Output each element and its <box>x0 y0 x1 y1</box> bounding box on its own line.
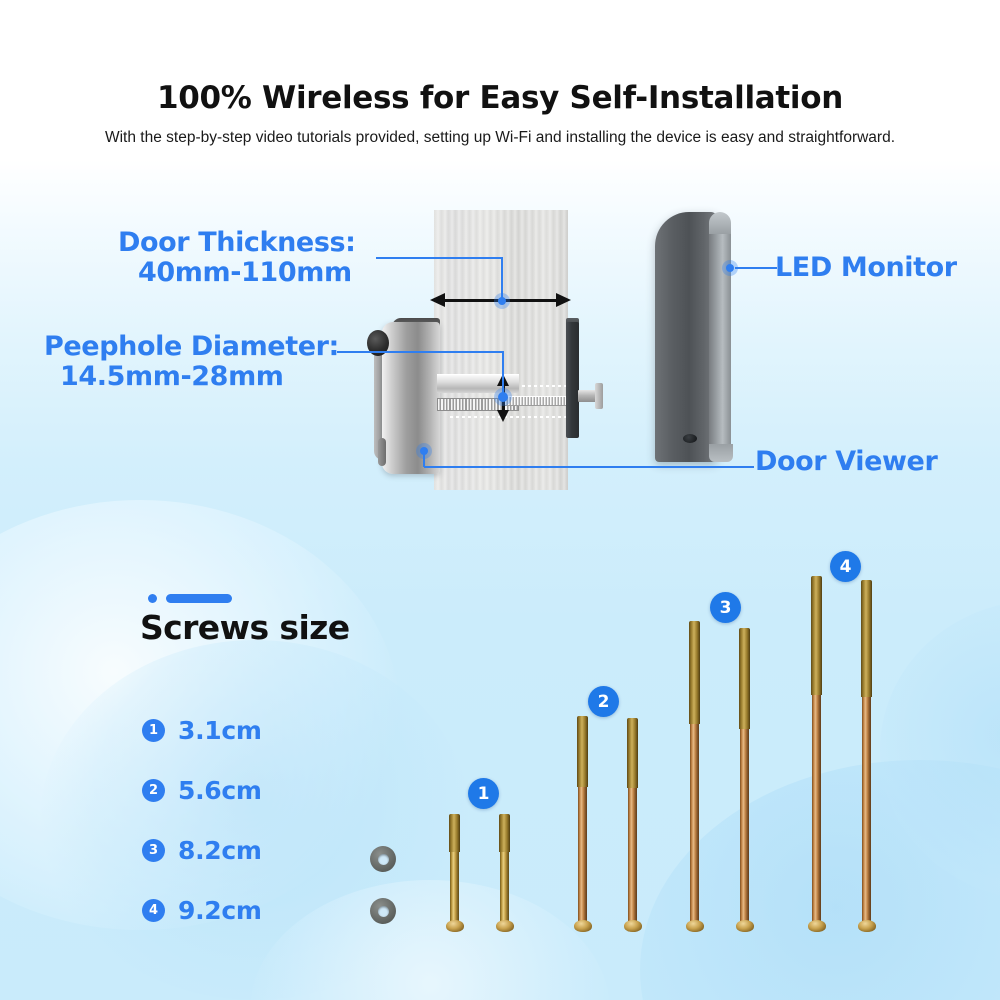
screw-group-badge-3: 3 <box>710 592 741 623</box>
led-monitor-unit <box>655 212 740 462</box>
screw-tip <box>811 576 822 695</box>
screw-size-row: 1 3.1cm <box>142 716 262 745</box>
background-bubble <box>40 640 470 1000</box>
screw-icon <box>690 621 699 925</box>
screw-size-badge: 1 <box>142 719 165 742</box>
rod-guide-line <box>450 416 580 418</box>
screw-size-badge: 3 <box>142 839 165 862</box>
callout-peephole-diameter: Peephole Diameter: 14.5mm-28mm <box>44 332 339 392</box>
section-decor-dot <box>148 594 157 603</box>
screw-group-badge-1: 1 <box>468 778 499 809</box>
screw-size-badge: 2 <box>142 779 165 802</box>
washer-icon <box>370 898 396 924</box>
door-panel-illustration <box>434 210 568 490</box>
callout-door-viewer: Door Viewer <box>755 447 937 477</box>
screw-size-row: 3 8.2cm <box>142 836 262 865</box>
camera-side-button <box>378 438 386 466</box>
screw-tip <box>861 580 872 697</box>
screw-icon <box>450 814 459 925</box>
screws-size-heading: Screws size <box>140 608 350 647</box>
screw-head <box>858 920 876 932</box>
led-monitor-front-edge <box>709 216 731 462</box>
screw-size-row: 2 5.6cm <box>142 776 262 805</box>
leader-door-thickness-h <box>376 257 503 259</box>
screw-tip <box>627 718 638 788</box>
callout-led-monitor: LED Monitor <box>775 253 957 283</box>
callout-door-thickness: Door Thickness: 40mm-110mm <box>118 228 356 288</box>
screw-head <box>496 920 514 932</box>
leader-door-viewer-h <box>424 466 754 468</box>
screw-group-badge-2: 2 <box>588 686 619 717</box>
mounting-bracket-plate <box>566 322 579 438</box>
screw-tip <box>499 814 510 852</box>
screw-size-badge: 4 <box>142 899 165 922</box>
screw-icon <box>740 628 749 925</box>
screw-tip <box>449 814 460 852</box>
header: 100% Wireless for Easy Self-Installation… <box>0 0 1000 147</box>
led-monitor-top-edge <box>709 212 731 234</box>
speaker-hole-icon <box>683 434 697 443</box>
infographic-canvas: 100% Wireless for Easy Self-Installation… <box>0 0 1000 1000</box>
screw-head <box>686 920 704 932</box>
screw-icon <box>812 576 821 925</box>
section-decor-bar <box>166 594 232 603</box>
screw-tip <box>577 716 588 787</box>
peephole-diameter-arrow-down <box>497 410 509 422</box>
screw-tip <box>739 628 750 729</box>
screw-head <box>624 920 642 932</box>
screw-head <box>574 920 592 932</box>
screw-head <box>446 920 464 932</box>
callout-line-2: 14.5mm-28mm <box>44 362 339 392</box>
led-monitor-body <box>655 212 717 462</box>
leader-dot-door-viewer <box>420 447 428 455</box>
page-title: 100% Wireless for Easy Self-Installation <box>0 0 1000 116</box>
screw-group-badge-4: 4 <box>830 551 861 582</box>
screw-icon <box>578 716 587 925</box>
screw-icon <box>500 814 509 925</box>
screw-size-row: 4 9.2cm <box>142 896 262 925</box>
callout-line-2: 40mm-110mm <box>118 258 356 288</box>
screw-size-value: 5.6cm <box>178 776 262 805</box>
screw-icon <box>862 580 871 925</box>
washer-icon <box>370 846 396 872</box>
screw-head <box>808 920 826 932</box>
screw-icon <box>628 718 637 925</box>
screw-tip <box>689 621 700 724</box>
background-bubble <box>250 880 610 1000</box>
bracket-bolt-head <box>595 383 603 409</box>
screw-size-value: 3.1cm <box>178 716 262 745</box>
leader-dot-peephole <box>498 392 508 402</box>
leader-peephole-h <box>337 351 504 353</box>
led-monitor-bottom-edge <box>709 444 733 462</box>
callout-line-1: Door Thickness: <box>118 227 356 258</box>
callout-line-1: Peephole Diameter: <box>44 331 339 362</box>
background-bubble <box>0 500 400 930</box>
background-bubble <box>880 600 1000 900</box>
screw-size-value: 9.2cm <box>178 896 262 925</box>
door-thickness-arrow-right <box>556 293 571 307</box>
screw-head <box>736 920 754 932</box>
screw-size-value: 8.2cm <box>178 836 262 865</box>
door-thickness-arrow-left <box>430 293 445 307</box>
leader-led-h <box>735 267 777 269</box>
page-subtitle: With the step-by-step video tutorials pr… <box>0 116 1000 147</box>
leader-dot-led-monitor <box>726 264 734 272</box>
leader-dot-door-thickness <box>498 297 506 305</box>
